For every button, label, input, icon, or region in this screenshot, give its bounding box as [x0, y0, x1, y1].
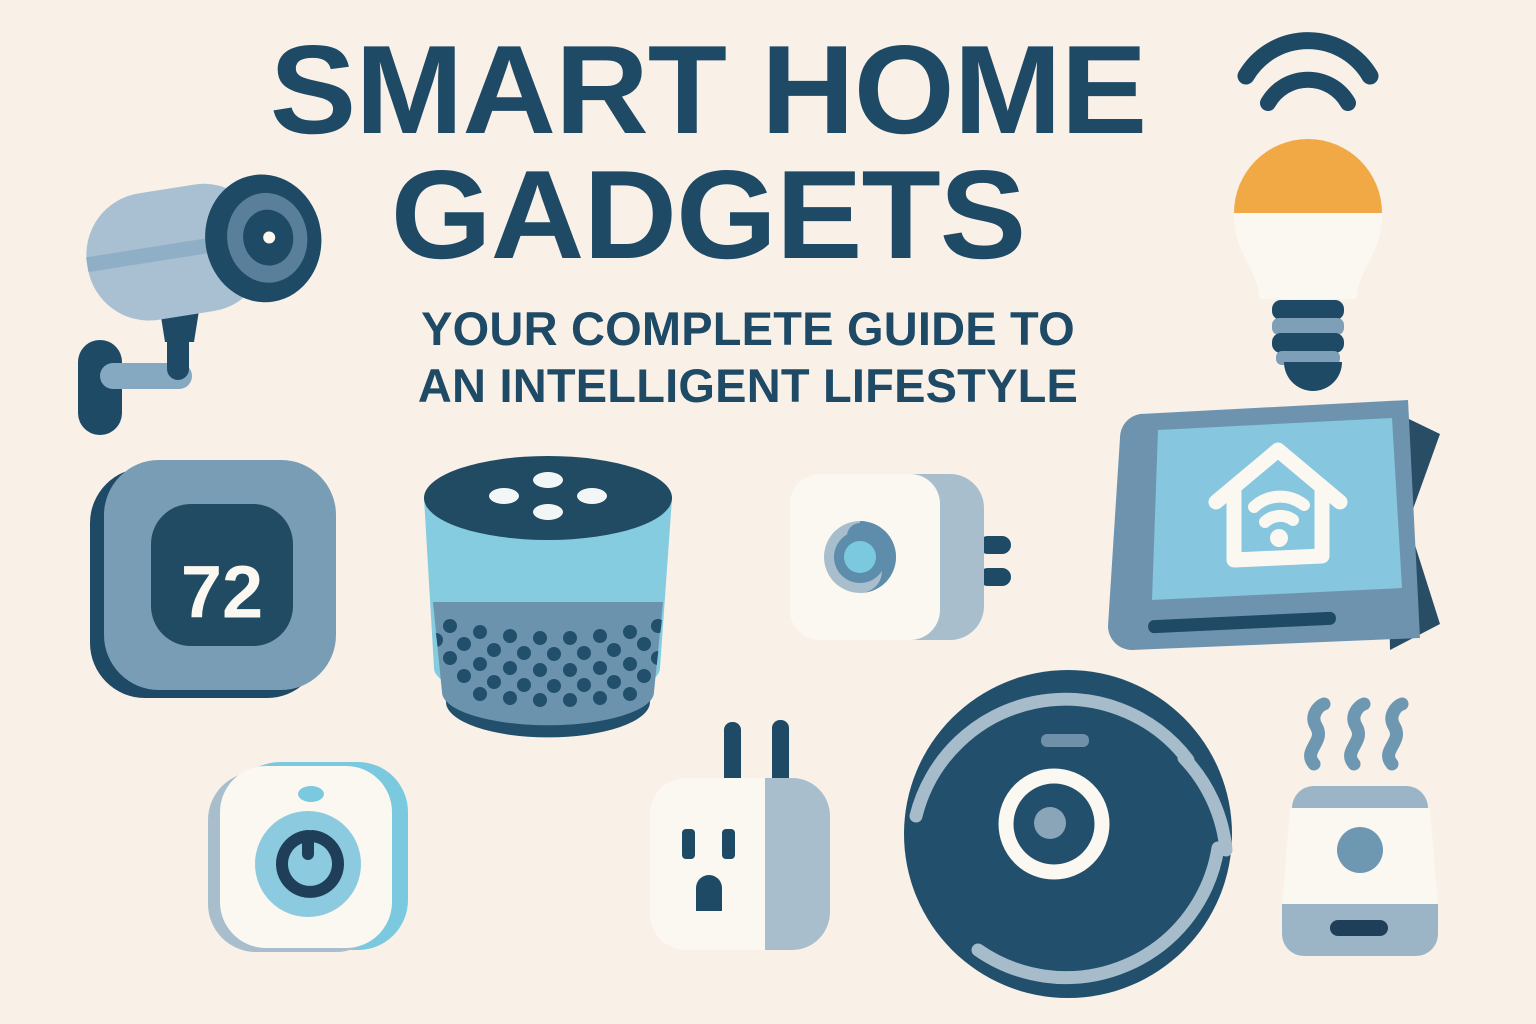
smart-display-icon: [1090, 388, 1460, 663]
thermostat-icon: 72: [88, 458, 353, 713]
thermostat-temperature-label: 72: [181, 551, 263, 634]
subtitle-line-2: AN INTELLIGENT LIFESTYLE: [368, 357, 1128, 414]
page-subtitle: YOUR COMPLETE GUIDE TO AN INTELLIGENT LI…: [368, 300, 1128, 415]
air-humidifier-icon: [1268, 698, 1453, 973]
subtitle-line-1: YOUR COMPLETE GUIDE TO: [368, 300, 1128, 357]
security-camera-icon: [70, 150, 350, 430]
title-line-1: SMART HOME: [214, 28, 1203, 151]
robot-vacuum-icon: [898, 668, 1243, 1003]
poster-canvas: SMART HOME GADGETS YOUR COMPLETE GUIDE T…: [0, 0, 1536, 1024]
page-title: SMART HOME GADGETS: [228, 28, 1188, 277]
title-line-2: GADGETS: [214, 153, 1203, 276]
smart-outlet-icon: [640, 718, 870, 963]
smart-plug-icon: [782, 458, 1017, 663]
smart-bulb-icon: [1198, 28, 1428, 378]
smart-switch-icon: [200, 758, 430, 963]
smart-speaker-icon: [414, 440, 684, 745]
